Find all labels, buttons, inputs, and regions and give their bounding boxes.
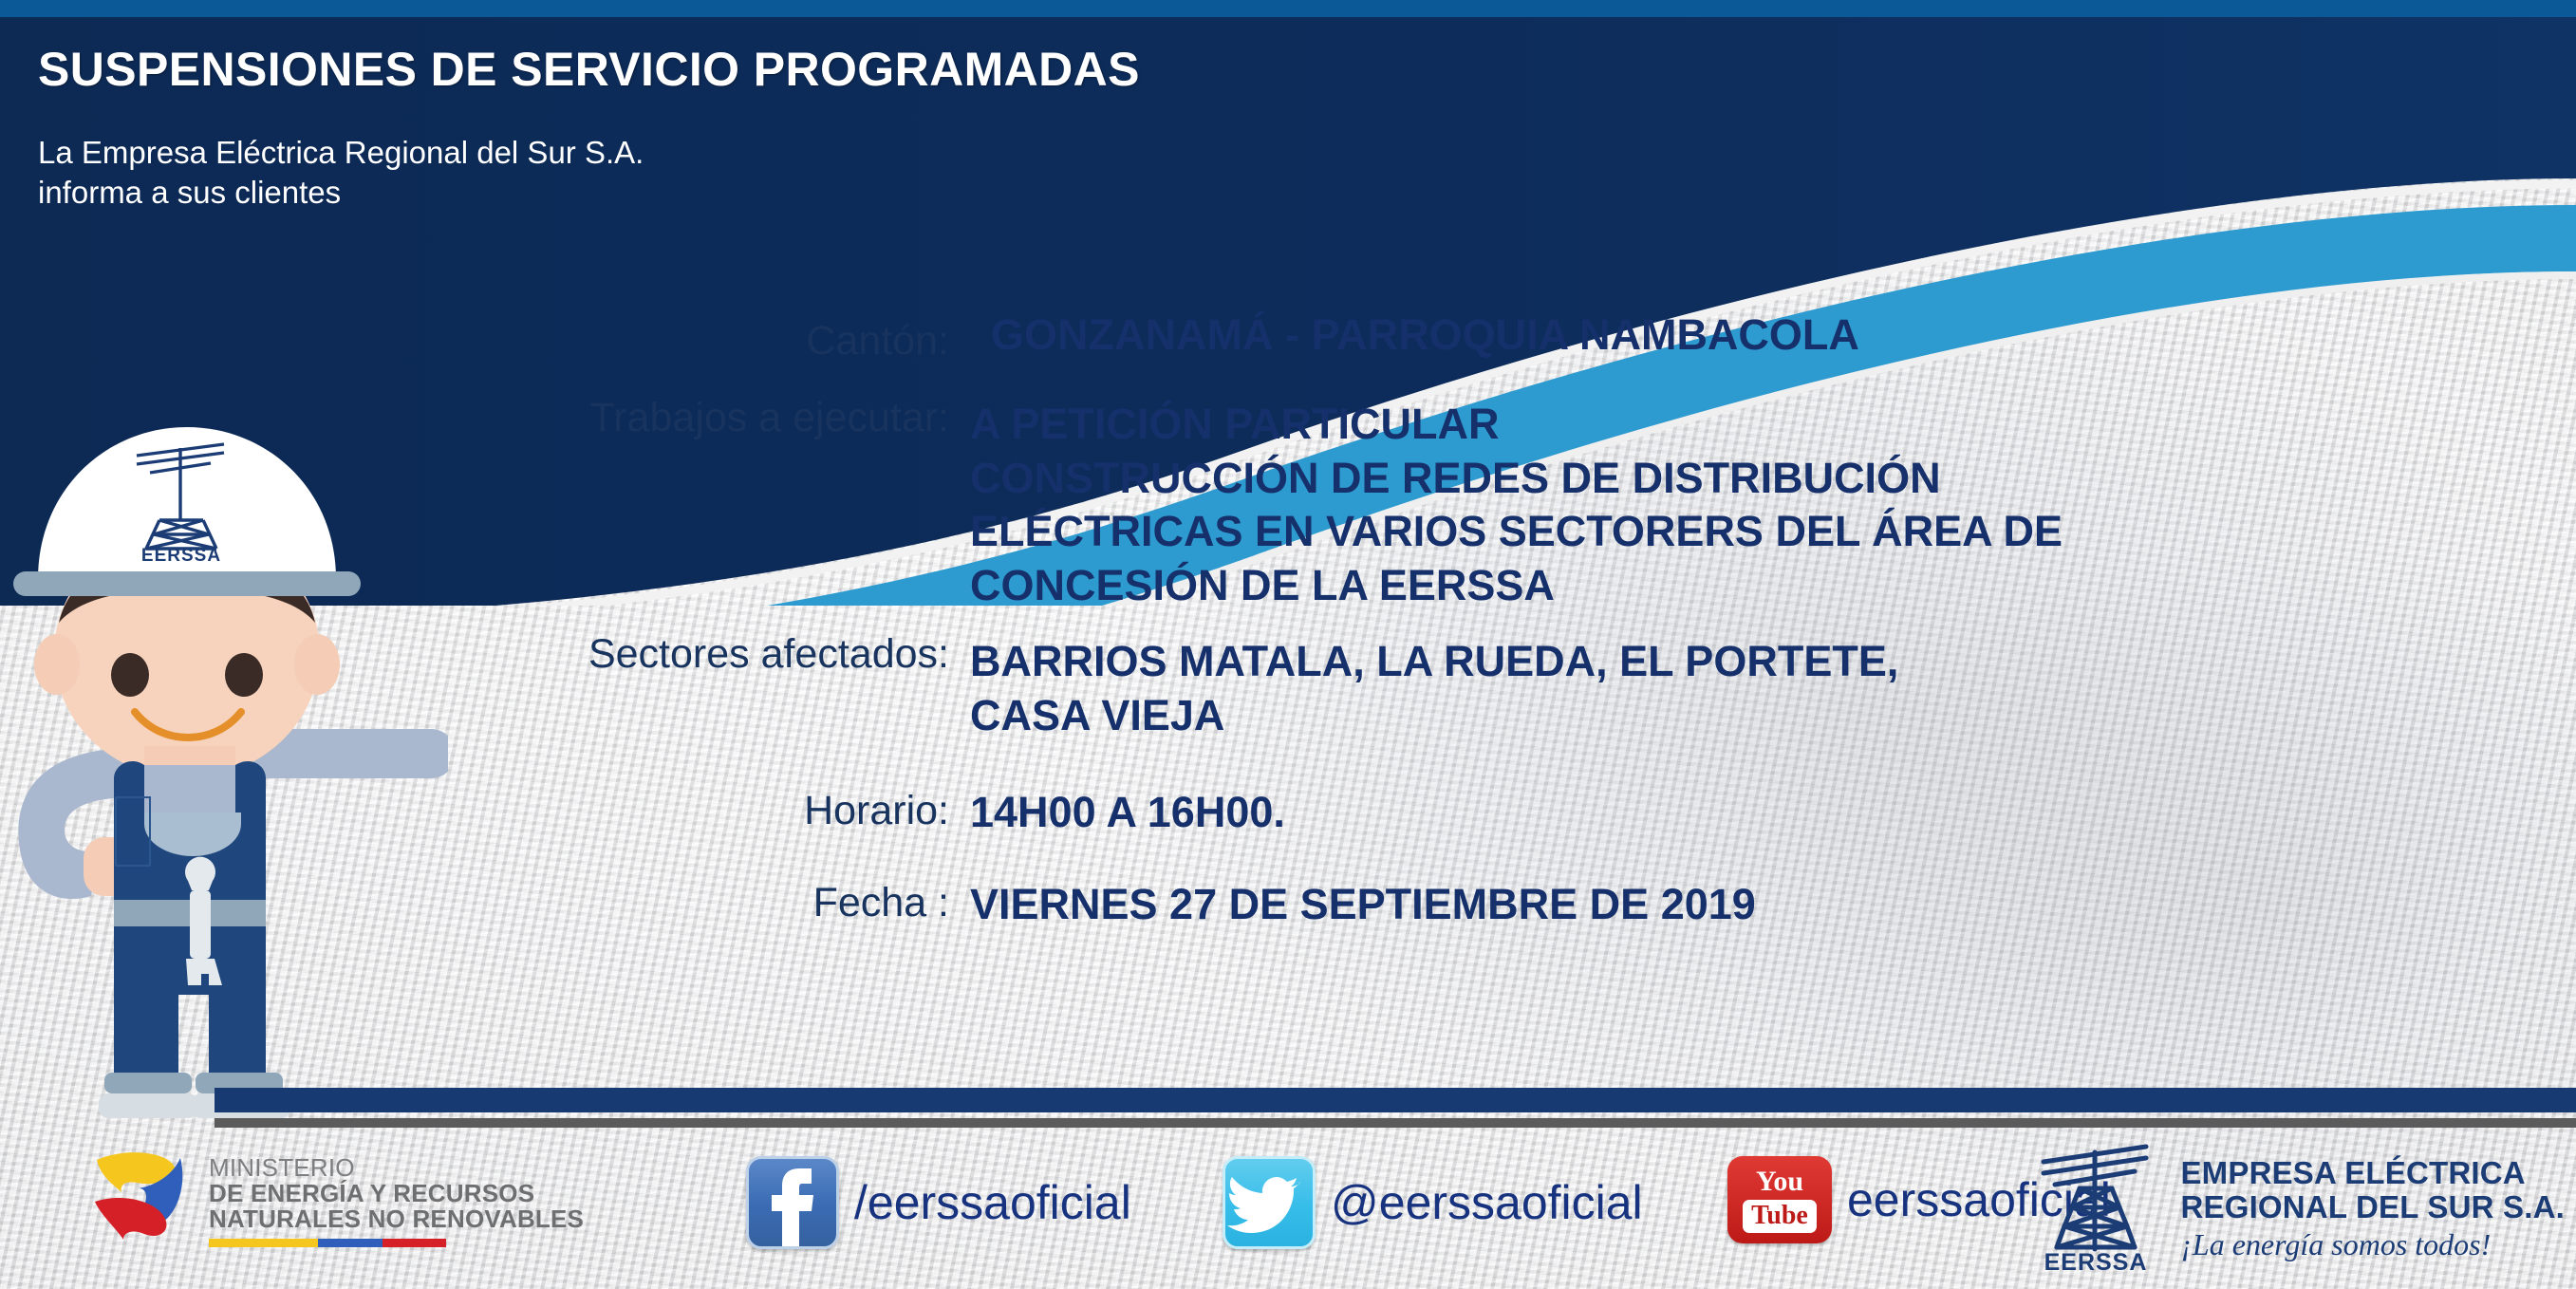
- ecuador-flag-bar-icon: [209, 1239, 446, 1247]
- facebook-handle[interactable]: /eerssaoficial: [854, 1175, 1131, 1230]
- info-row-trabajos: Trabajos a ejecutar: A PETICIÓN PARTICUL…: [0, 398, 2576, 613]
- label-sectores: Sectores afectados:: [0, 634, 970, 675]
- transmission-tower-icon: EERSSA: [2025, 1135, 2167, 1282]
- header-subtitle: La Empresa Eléctrica Regional del Sur S.…: [38, 133, 644, 213]
- eerssa-line1: EMPRESA ELÉCTRICA: [2180, 1156, 2565, 1190]
- twitter-icon[interactable]: [1223, 1156, 1316, 1249]
- facebook-icon[interactable]: [746, 1156, 839, 1249]
- separator-bar-navy: [215, 1088, 2576, 1112]
- twitter-handle[interactable]: @eerssaoficial: [1331, 1175, 1643, 1230]
- footer: MINISTERIO DE ENERGÍA Y RECURSOS NATURAL…: [0, 1135, 2576, 1289]
- separator-bar-gray: [215, 1118, 2576, 1128]
- label-trabajos: Trabajos a ejecutar:: [0, 398, 970, 439]
- value-canton: GONZANAMÁ - PARROQUIA NAMBACOLA: [970, 313, 1859, 356]
- header-subtitle-line1: La Empresa Eléctrica Regional del Sur S.…: [38, 133, 644, 173]
- info-row-fecha: Fecha : VIERNES 27 DE SEPTIEMBRE DE 2019: [0, 883, 2576, 925]
- info-row-sectores: Sectores afectados: BARRIOS MATALA, LA R…: [0, 634, 2576, 743]
- info-row-horario: Horario: 14H00 A 16H00.: [0, 791, 2576, 833]
- youtube-icon-top: You: [1756, 1168, 1803, 1196]
- ministry-line2: DE ENERGÍA Y RECURSOS: [209, 1181, 584, 1206]
- poster-root: SUSPENSIONES DE SERVICIO PROGRAMADAS La …: [0, 0, 2576, 1289]
- social-twitter[interactable]: @eerssaoficial: [1223, 1156, 1643, 1249]
- value-horario: 14H00 A 16H00.: [970, 791, 1285, 833]
- ministry-line1: MINISTERIO: [209, 1155, 584, 1181]
- eerssa-company-logo: EERSSA EMPRESA ELÉCTRICA REGIONAL DEL SU…: [2025, 1135, 2565, 1282]
- svg-text:EERSSA: EERSSA: [2044, 1249, 2148, 1276]
- youtube-icon-bottom: Tube: [1743, 1200, 1817, 1233]
- ministry-text: MINISTERIO DE ENERGÍA Y RECURSOS NATURAL…: [209, 1155, 584, 1232]
- eerssa-line2: REGIONAL DEL SUR S.A.: [2180, 1190, 2565, 1224]
- value-fecha: VIERNES 27 DE SEPTIEMBRE DE 2019: [970, 883, 1756, 925]
- social-facebook[interactable]: /eerssaoficial: [746, 1156, 1131, 1249]
- top-accent-strip: [0, 0, 2576, 17]
- label-canton: Cantón:: [0, 313, 970, 362]
- value-sectores: BARRIOS MATALA, LA RUEDA, EL PORTETE, CA…: [970, 634, 1898, 743]
- header-subtitle-line2: informa a sus clientes: [38, 173, 644, 213]
- youtube-icon[interactable]: You Tube: [1727, 1156, 1832, 1243]
- value-trabajos: A PETICIÓN PARTICULAR CONSTRUCCIÓN DE RE…: [970, 398, 2063, 613]
- label-fecha: Fecha :: [0, 883, 970, 924]
- eerssa-slogan: ¡La energía somos todos!: [2180, 1228, 2565, 1261]
- page-title: SUSPENSIONES DE SERVICIO PROGRAMADAS: [38, 42, 1140, 97]
- ministry-logo: MINISTERIO DE ENERGÍA Y RECURSOS NATURAL…: [87, 1143, 584, 1260]
- eerssa-company-text: EMPRESA ELÉCTRICA REGIONAL DEL SUR S.A. …: [2180, 1156, 2565, 1262]
- info-row-canton: Cantón: GONZANAMÁ - PARROQUIA NAMBACOLA: [0, 313, 2576, 362]
- ministry-line3: NATURALES NO RENOVABLES: [209, 1206, 584, 1232]
- label-horario: Horario:: [0, 791, 970, 831]
- ecuador-swirl-icon: [87, 1143, 194, 1260]
- information-table: Cantón: GONZANAMÁ - PARROQUIA NAMBACOLA …: [0, 313, 2576, 925]
